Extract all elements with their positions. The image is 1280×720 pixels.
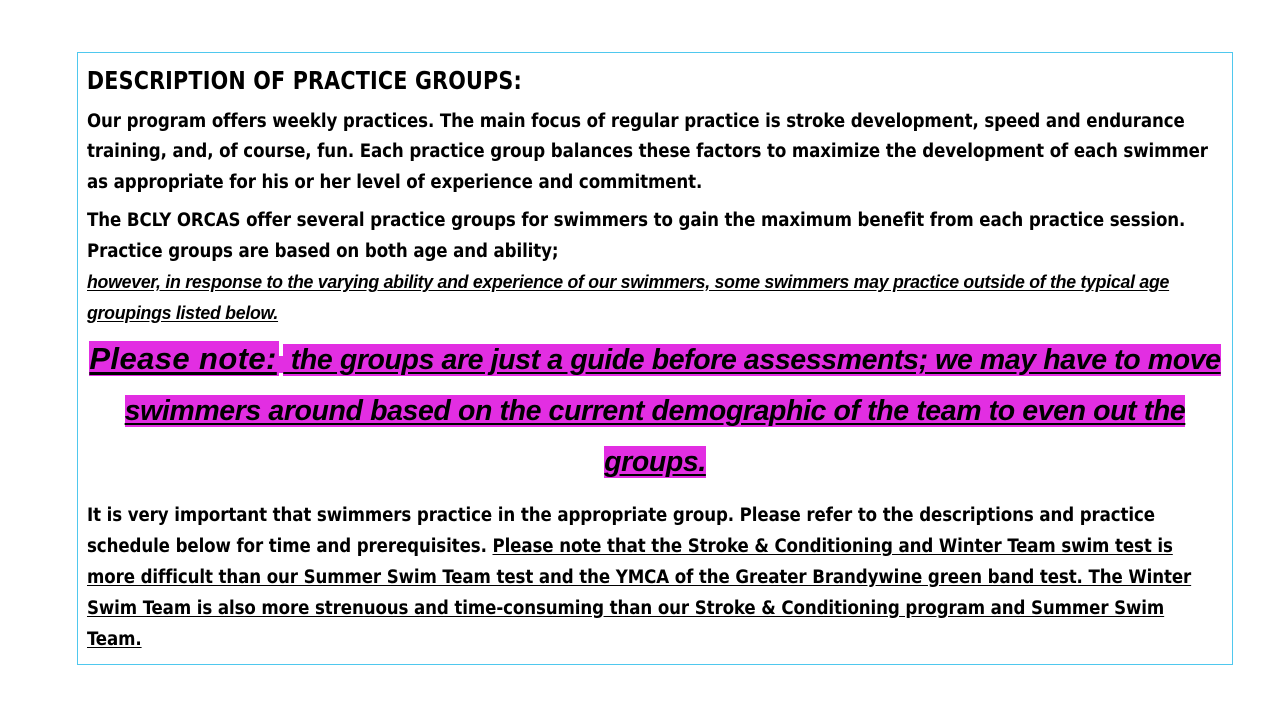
slide-canvas: DESCRIPTION OF PRACTICE GROUPS: Our prog…: [0, 0, 1280, 720]
paragraph-practice-groups-plain: The BCLY ORCAS offer several practice gr…: [87, 210, 1185, 262]
paragraph-program-overview: Our program offers weekly practices. The…: [86, 107, 1224, 199]
paragraph-practice-groups-emphasis: however, in response to the varying abil…: [87, 267, 1179, 328]
please-note-body: the groups are just a guide before asses…: [125, 344, 1221, 478]
description-content-box: DESCRIPTION OF PRACTICE GROUPS: Our prog…: [77, 52, 1233, 665]
please-note-highlight: Please note: the groups are just a guide…: [86, 335, 1224, 490]
paragraph-practice-groups: The BCLY ORCAS offer several practice gr…: [86, 206, 1224, 329]
page-title: DESCRIPTION OF PRACTICE GROUPS:: [86, 67, 1133, 95]
paragraph-program-overview-text: Our program offers weekly practices. The…: [87, 111, 1208, 193]
paragraph-placement-note: It is very important that swimmers pract…: [86, 500, 1224, 655]
please-note-label: Please note:: [89, 341, 278, 376]
